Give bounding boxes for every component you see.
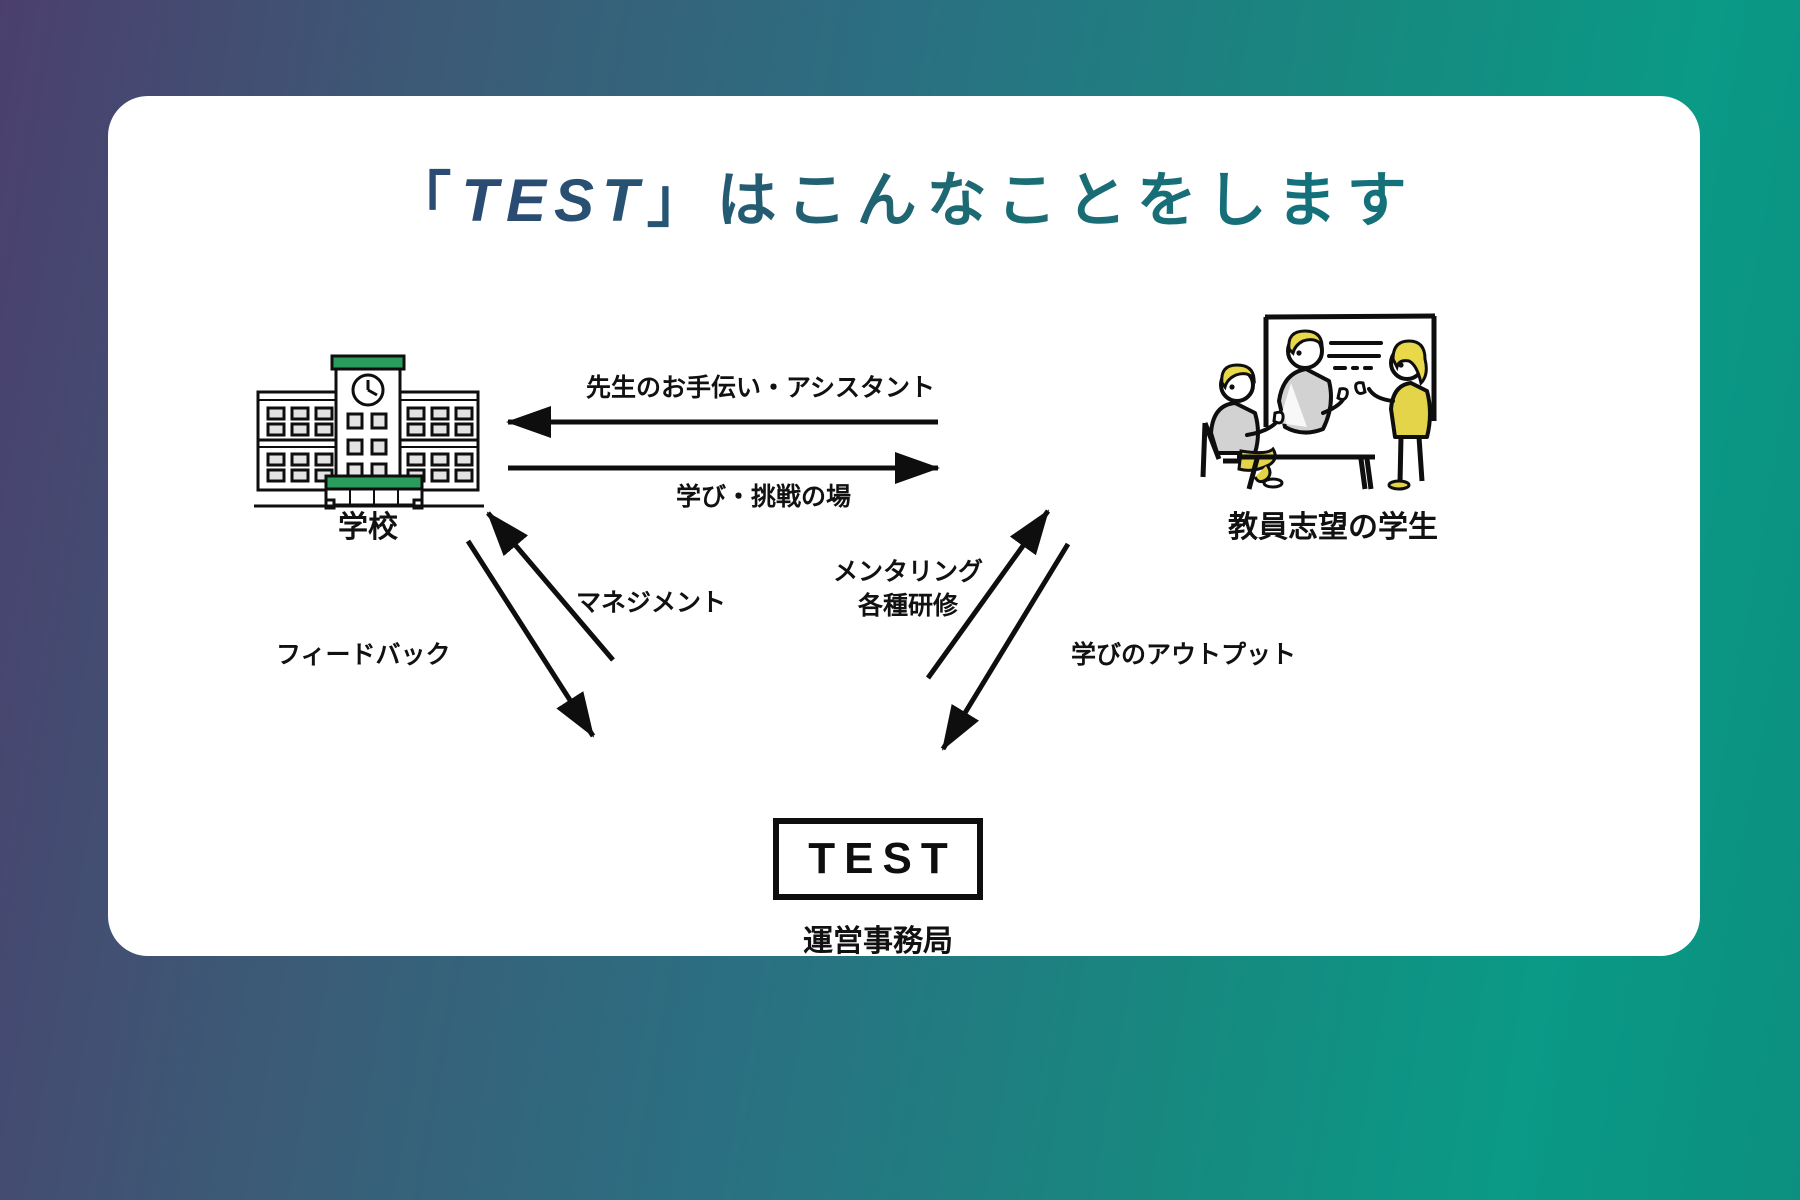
arrow-school-to-org: [468, 541, 593, 736]
org-test-box-text: TEST: [808, 834, 956, 884]
content-card: 「TEST」はこんなことをします: [108, 96, 1700, 956]
node-label-org: 運営事務局: [773, 916, 983, 960]
flow-label-school-to-org: フィードバック: [276, 635, 451, 671]
flow-label-students-to-school: 先生のお手伝い・アシスタント: [586, 368, 935, 404]
flow-label-org-to-students: メンタリング 各種研修: [808, 556, 1008, 624]
org-test-box: TEST: [773, 818, 983, 900]
flow-label-org-to-school: マネジメント: [576, 583, 726, 619]
flow-label-school-to-students: 学び・挑戦の場: [676, 477, 851, 513]
flow-label-students-to-org: 学びのアウトプット: [1071, 635, 1296, 671]
flow-label-org-to-students-line2: 各種研修: [808, 590, 1008, 624]
slide-canvas: 「TEST」はこんなことをします: [0, 0, 1800, 1200]
flow-label-org-to-students-line1: メンタリング: [808, 556, 1008, 590]
